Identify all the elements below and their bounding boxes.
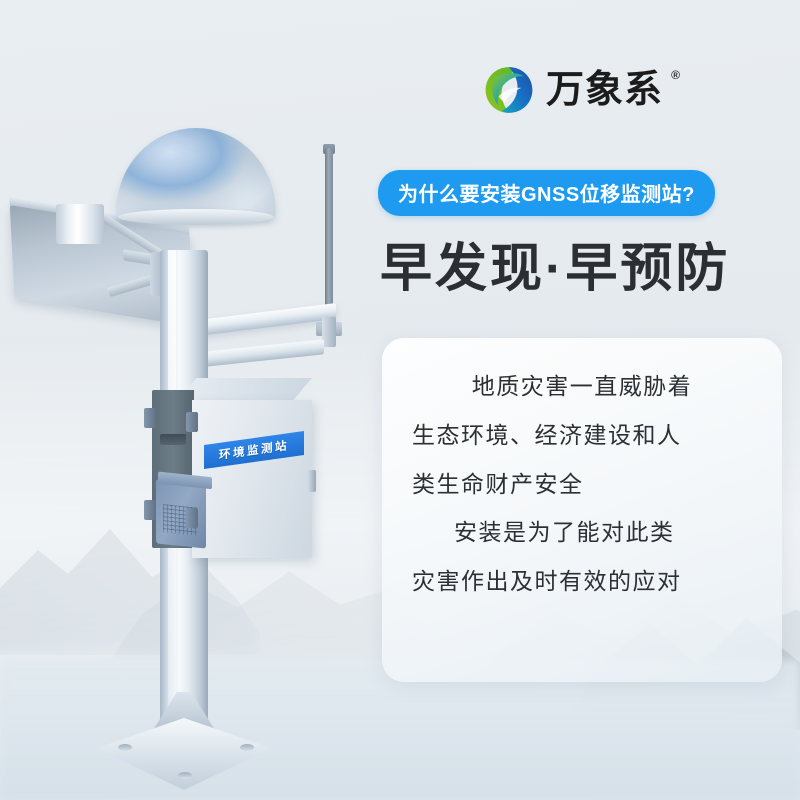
description-line-2: 生态环境、经济建设和人	[408, 421, 756, 450]
instrument-enclosure: 环境监测站	[152, 378, 312, 558]
enclosure-vent-module	[156, 479, 206, 548]
description-line-5: 灾害作出及时有效的应对	[408, 567, 756, 596]
description-line-4: 安装是为了能对此类	[408, 518, 756, 547]
question-banner: 为什么要安装GNSS位移监测站?	[378, 170, 715, 216]
headline: 早发现·早预防	[380, 226, 730, 301]
globe-swoosh-logo-icon	[483, 64, 535, 116]
enclosure-clamp-2	[144, 500, 156, 520]
enclosure-clamp-4	[186, 508, 198, 528]
description-card: 地质灾害一直威胁着 生态环境、经济建设和人 类生命财产安全 安装是为了能对此类 …	[382, 338, 782, 682]
content-column: 万象系 ® 为什么要安装GNSS位移监测站? 早发现·早预防 地质灾害一直威胁着…	[370, 0, 800, 800]
lower-support-arm	[196, 339, 324, 367]
poster-canvas: 环境监测站	[0, 0, 800, 800]
description-line-3: 类生命财产安全	[408, 470, 756, 499]
enclosure-clamp-1	[144, 408, 156, 428]
brand-name-wrap: 万象系 ®	[546, 71, 663, 109]
gnss-antenna-dome	[116, 128, 276, 220]
gnss-monitoring-station-illustration: 环境监测站	[0, 100, 380, 760]
description-line-1: 地质灾害一直威胁着	[408, 372, 756, 401]
antenna-crossarm	[190, 303, 336, 337]
enclosure-vent-slot	[160, 434, 186, 445]
enclosure-latch	[308, 470, 316, 492]
base-bolt-hole-2	[240, 744, 254, 751]
whip-antenna	[325, 148, 333, 328]
brand-name: 万象系	[546, 69, 663, 111]
registered-trademark-icon: ®	[671, 69, 681, 81]
base-bolt-hole-1	[118, 744, 132, 751]
crossarm-bracket-right	[322, 317, 336, 347]
antenna-neck	[56, 204, 104, 244]
enclosure-clamp-3	[186, 412, 198, 432]
base-bolt-hole-3	[178, 772, 192, 779]
antenna-radome	[116, 128, 276, 220]
antenna-dome-rim	[118, 209, 274, 225]
brand-logo: 万象系 ®	[483, 64, 663, 116]
